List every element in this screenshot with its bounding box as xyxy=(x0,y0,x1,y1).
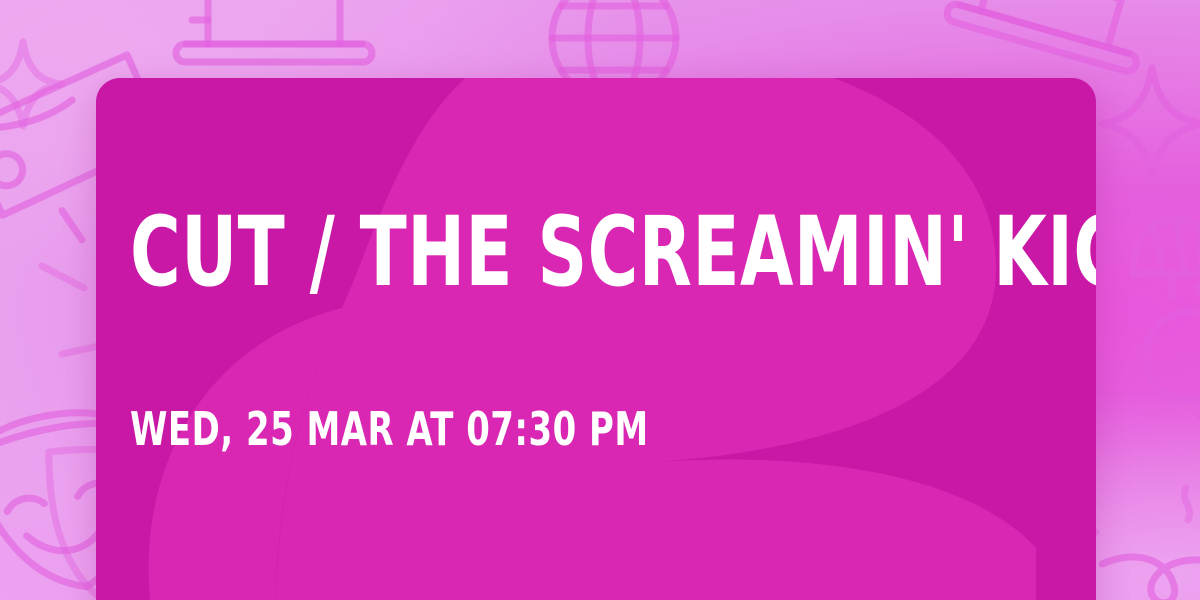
balloon-string-icon xyxy=(1128,392,1200,522)
event-banner: CUT / THE SCREAMIN' KICK WED, 25 MAR AT … xyxy=(0,0,1200,600)
event-datetime: WED, 25 MAR AT 07:30 PM xyxy=(130,406,649,452)
sparkle-icon xyxy=(1092,58,1200,188)
microphone-icon xyxy=(1112,200,1200,390)
event-card[interactable]: CUT / THE SCREAMIN' KICK WED, 25 MAR AT … xyxy=(96,78,1096,600)
event-card-content: CUT / THE SCREAMIN' KICK WED, 25 MAR AT … xyxy=(130,78,1070,600)
event-title: CUT / THE SCREAMIN' KICK xyxy=(130,206,1096,298)
sparkle-icon xyxy=(0,34,68,134)
confetti-dash-icon xyxy=(30,256,100,296)
